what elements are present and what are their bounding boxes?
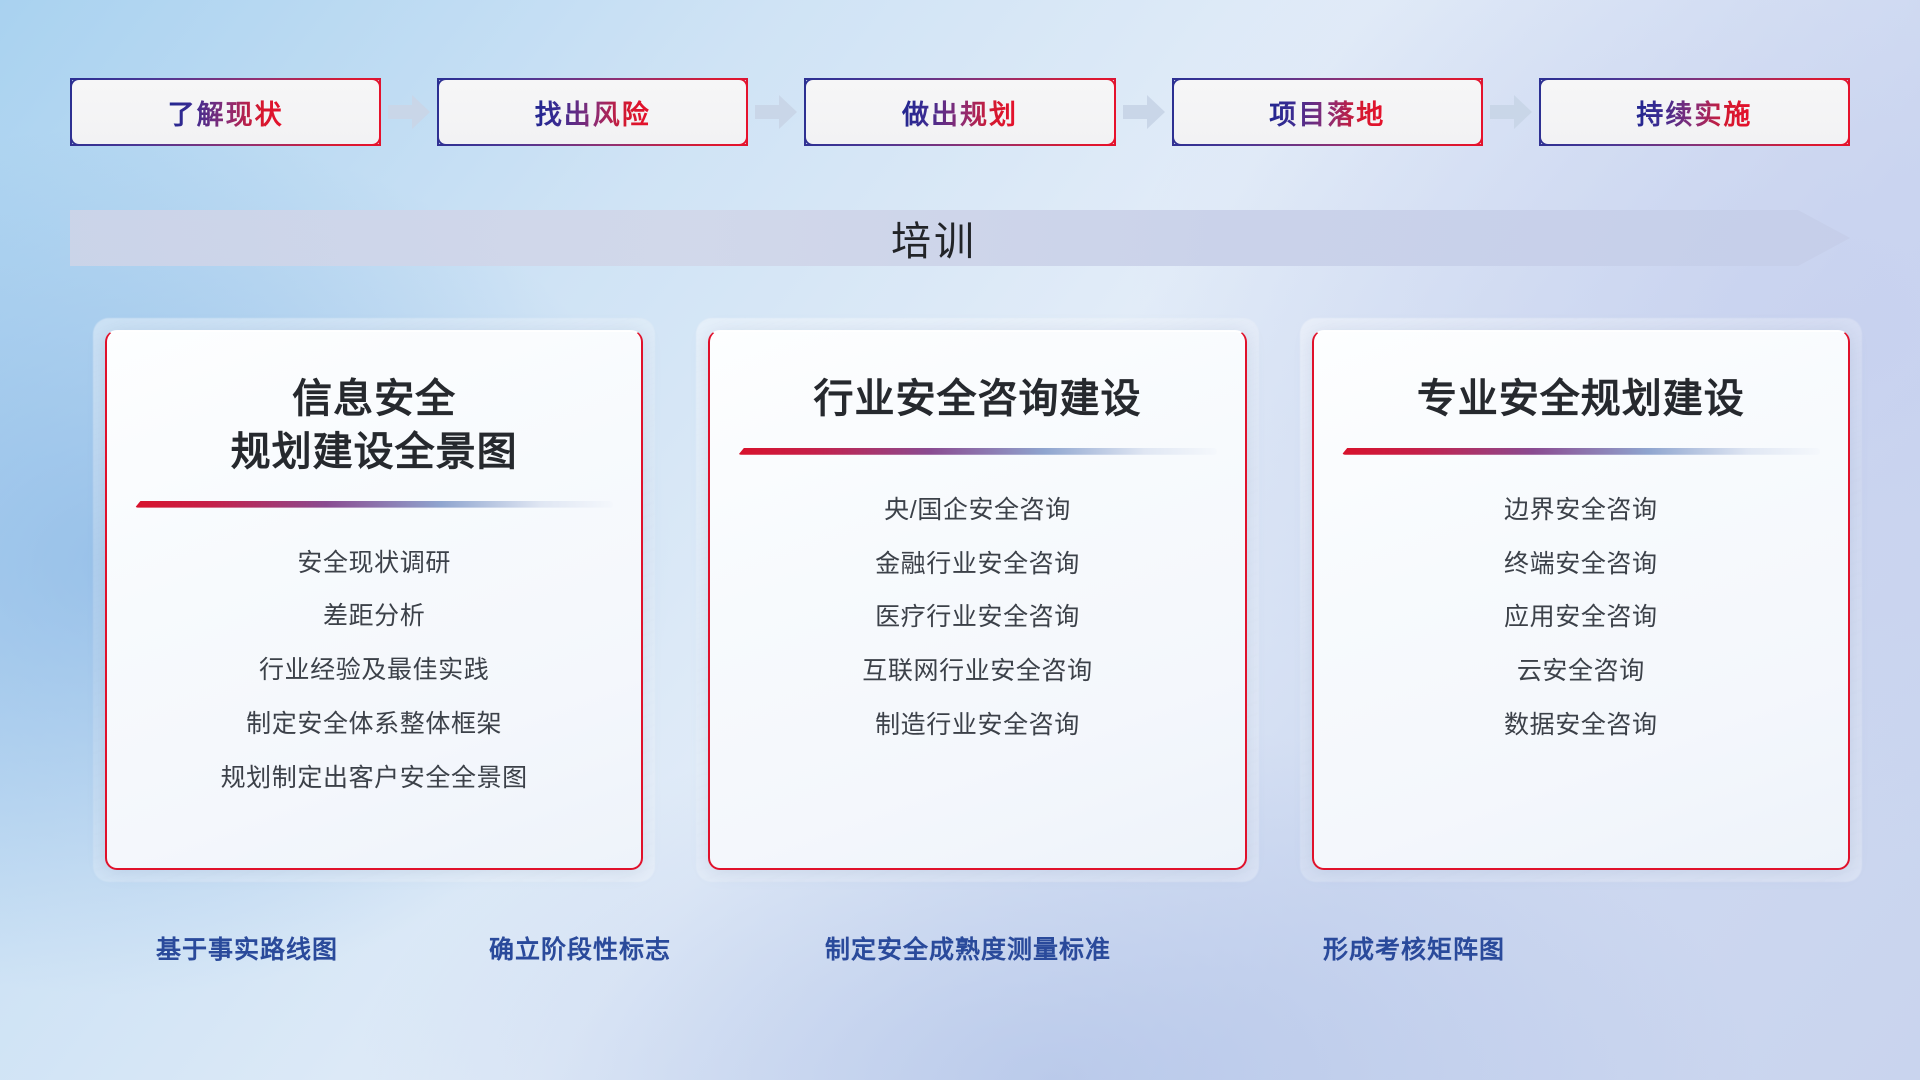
- slide-canvas: 了解现状找出风险做出规划项目落地持续实施 培训 信息安全 规划建设全景图安全现状…: [0, 0, 1920, 1080]
- card-list: 边界安全咨询终端安全咨询应用安全咨询云安全咨询数据安全咨询: [1314, 489, 1848, 748]
- list-item: 边界安全咨询: [1504, 489, 1658, 533]
- card-1: 信息安全 规划建设全景图安全现状调研差距分析行业经验及最佳实践制定安全体系整体框…: [105, 330, 643, 870]
- card-title: 行业安全咨询建设: [813, 373, 1141, 426]
- step-box-3[interactable]: 做出规划: [804, 78, 1115, 146]
- card-divider: [1342, 448, 1820, 455]
- list-item: 制造行业安全咨询: [875, 704, 1080, 748]
- list-item: 应用安全咨询: [1504, 596, 1658, 640]
- card-divider: [135, 501, 613, 508]
- card-body[interactable]: 信息安全 规划建设全景图安全现状调研差距分析行业经验及最佳实践制定安全体系整体框…: [105, 330, 643, 870]
- list-item: 金融行业安全咨询: [875, 543, 1080, 587]
- list-item: 医疗行业安全咨询: [875, 596, 1080, 640]
- banner-title: 培训: [70, 210, 1850, 266]
- step-box-1[interactable]: 了解现状: [70, 78, 381, 146]
- step-label: 做出规划: [902, 93, 1018, 132]
- card-divider: [738, 448, 1216, 455]
- process-steps-row: 了解现状找出风险做出规划项目落地持续实施: [70, 78, 1850, 146]
- card-list: 安全现状调研差距分析行业经验及最佳实践制定安全体系整体框架规划制定出客户安全全景…: [107, 542, 641, 801]
- footer-caption-1: 基于事实路线图: [156, 930, 338, 966]
- footer-caption-4: 形成考核矩阵图: [1323, 930, 1505, 966]
- step-label: 项目落地: [1269, 93, 1385, 132]
- step-label: 持续实施: [1636, 93, 1752, 132]
- list-item: 安全现状调研: [297, 542, 451, 586]
- card-body[interactable]: 专业安全规划建设边界安全咨询终端安全咨询应用安全咨询云安全咨询数据安全咨询: [1312, 330, 1850, 870]
- footer-caption-3: 制定安全成熟度测量标准: [825, 930, 1111, 966]
- list-item: 制定安全体系整体框架: [246, 703, 502, 747]
- step-arrow-icon: [381, 92, 437, 132]
- cards-row: 信息安全 规划建设全景图安全现状调研差距分析行业经验及最佳实践制定安全体系整体框…: [105, 330, 1850, 870]
- card-body[interactable]: 行业安全咨询建设央/国企安全咨询金融行业安全咨询医疗行业安全咨询互联网行业安全咨…: [708, 330, 1246, 870]
- training-banner: 培训: [70, 210, 1850, 266]
- step-arrow-icon: [1116, 92, 1172, 132]
- list-item: 互联网行业安全咨询: [862, 650, 1092, 694]
- footer-captions-row: 基于事实路线图确立阶段性标志制定安全成熟度测量标准形成考核矩阵图: [0, 930, 1920, 970]
- step-arrow-icon: [748, 92, 804, 132]
- list-item: 央/国企安全咨询: [884, 489, 1071, 533]
- list-item: 云安全咨询: [1517, 650, 1645, 694]
- step-box-2[interactable]: 找出风险: [437, 78, 748, 146]
- list-item: 终端安全咨询: [1504, 543, 1658, 587]
- list-item: 数据安全咨询: [1504, 704, 1658, 748]
- card-title: 专业安全规划建设: [1417, 373, 1745, 426]
- footer-caption-2: 确立阶段性标志: [489, 930, 671, 966]
- step-arrow-icon: [1483, 92, 1539, 132]
- step-label: 找出风险: [535, 93, 651, 132]
- step-box-5[interactable]: 持续实施: [1539, 78, 1850, 146]
- list-item: 规划制定出客户安全全景图: [221, 757, 528, 801]
- card-title: 信息安全 规划建设全景图: [231, 373, 518, 479]
- list-item: 行业经验及最佳实践: [259, 649, 489, 693]
- step-box-4[interactable]: 项目落地: [1172, 78, 1483, 146]
- list-item: 差距分析: [323, 595, 425, 639]
- card-list: 央/国企安全咨询金融行业安全咨询医疗行业安全咨询互联网行业安全咨询制造行业安全咨…: [710, 489, 1244, 748]
- step-label: 了解现状: [168, 93, 284, 132]
- card-2: 行业安全咨询建设央/国企安全咨询金融行业安全咨询医疗行业安全咨询互联网行业安全咨…: [708, 330, 1246, 870]
- card-3: 专业安全规划建设边界安全咨询终端安全咨询应用安全咨询云安全咨询数据安全咨询: [1312, 330, 1850, 870]
